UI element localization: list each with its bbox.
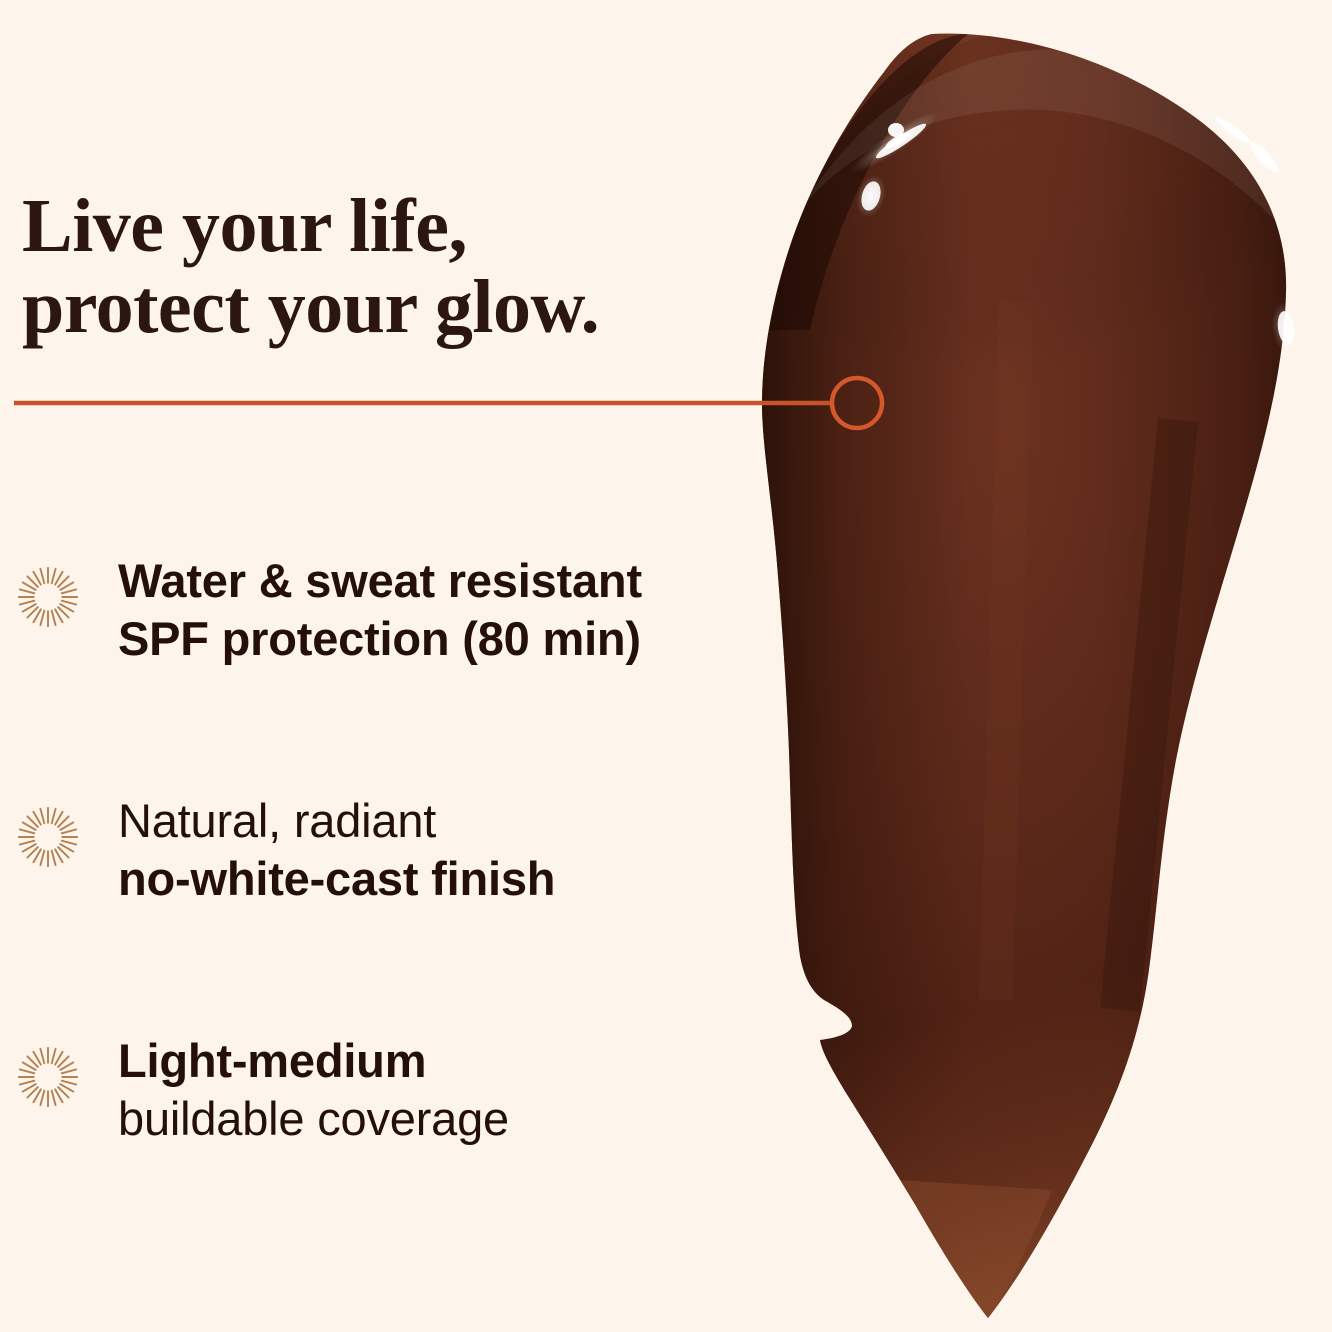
feature-line: no-white-cast finish xyxy=(118,850,555,908)
swatch-tip-warm xyxy=(900,1180,1052,1320)
swatch-left-shading xyxy=(740,0,970,1332)
sunburst-icon xyxy=(17,1046,79,1108)
sunburst-icon xyxy=(17,566,79,628)
swatch-edge-shadow-topleft xyxy=(770,34,968,330)
feature-line: SPF protection (80 min) xyxy=(118,610,642,668)
callout-pointer xyxy=(0,370,920,440)
feature-line: Natural, radiant xyxy=(118,792,555,850)
feature-line: Light-medium xyxy=(118,1032,509,1090)
feature-line: Water & sweat resistant xyxy=(118,552,642,610)
sunburst-icon xyxy=(17,806,79,868)
feature-text: Water & sweat resistant SPF protection (… xyxy=(118,548,642,668)
swatch-right-crease xyxy=(1120,420,1178,1010)
callout-circle xyxy=(832,378,882,428)
feature-line: buildable coverage xyxy=(118,1090,509,1148)
feature-list: Water & sweat resistant SPF protection (… xyxy=(0,548,720,1268)
feature-item-buildable-coverage: Light-medium buildable coverage xyxy=(0,1028,720,1268)
swatch-specular-highlights xyxy=(846,103,1303,355)
page-headline: Live your life, protect your glow. xyxy=(22,186,722,349)
product-feature-card: Live your life, protect your glow. xyxy=(0,0,1332,1332)
swatch-top-rim xyxy=(740,0,1292,330)
swatch-gloss-band xyxy=(800,49,1280,226)
swatch-center-crease xyxy=(996,300,1016,1000)
feature-item-no-white-cast: Natural, radiant no-white-cast finish xyxy=(0,788,720,1028)
swatch-body xyxy=(762,34,1286,1318)
feature-text: Light-medium buildable coverage xyxy=(118,1028,509,1148)
swatch-right-shading xyxy=(1100,0,1332,1332)
feature-text: Natural, radiant no-white-cast finish xyxy=(118,788,555,908)
feature-item-water-sweat-resistant: Water & sweat resistant SPF protection (… xyxy=(0,548,720,788)
swatch-bottom-warmth xyxy=(740,700,1332,1332)
